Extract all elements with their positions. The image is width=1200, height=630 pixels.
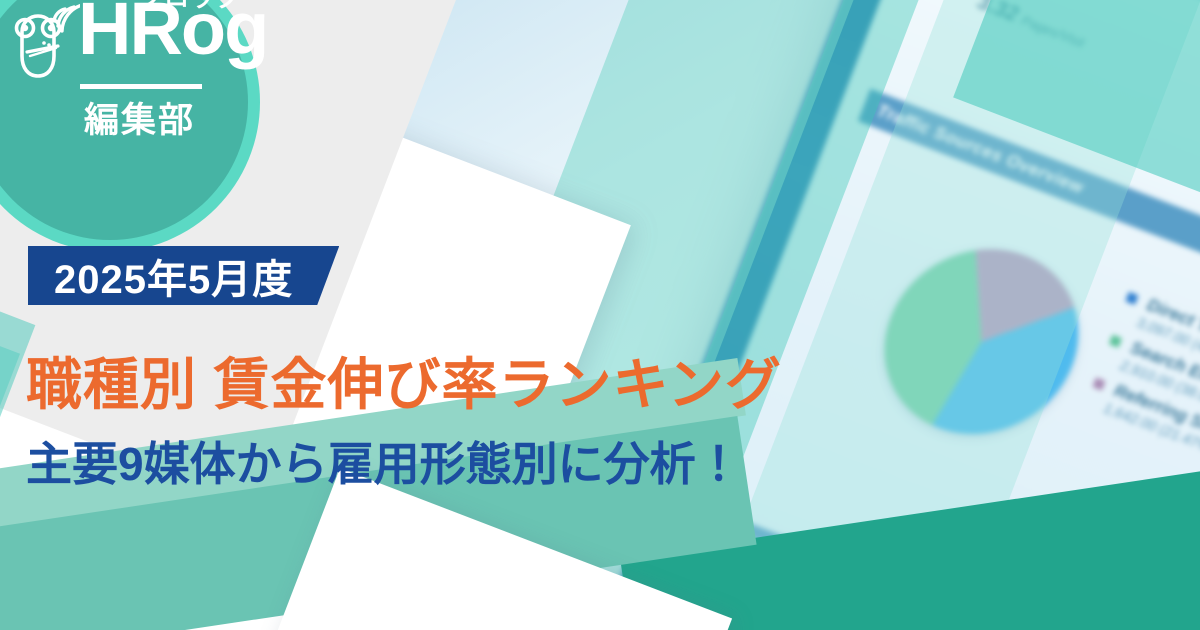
hrog-logo: フロッグ HRog 編集部: [0, 0, 260, 252]
legend-swatch-search-engines: [1109, 335, 1122, 348]
logo-wordmark: HRog: [78, 0, 267, 66]
og-image-canvas: 3.32 Pages/Visit 25.37% Map Overlay Traf…: [0, 0, 1200, 630]
page-title: 職種別 賃金伸び率ランキング: [26, 340, 782, 421]
frog-mascot-icon: [8, 0, 80, 84]
legend-swatch-referring-sites: [1092, 377, 1105, 390]
pie-legend: Direct Traffic 3,097.00 (40.49%) Search …: [1081, 287, 1200, 470]
logo-department-label: 編集部: [84, 92, 195, 143]
logo-divider-rule: [80, 84, 202, 89]
date-badge: 2025年5月度: [28, 246, 339, 305]
page-subtitle: 主要9媒体から雇用形態別に分析！: [26, 428, 742, 494]
legend-swatch-direct-traffic: [1125, 292, 1138, 305]
